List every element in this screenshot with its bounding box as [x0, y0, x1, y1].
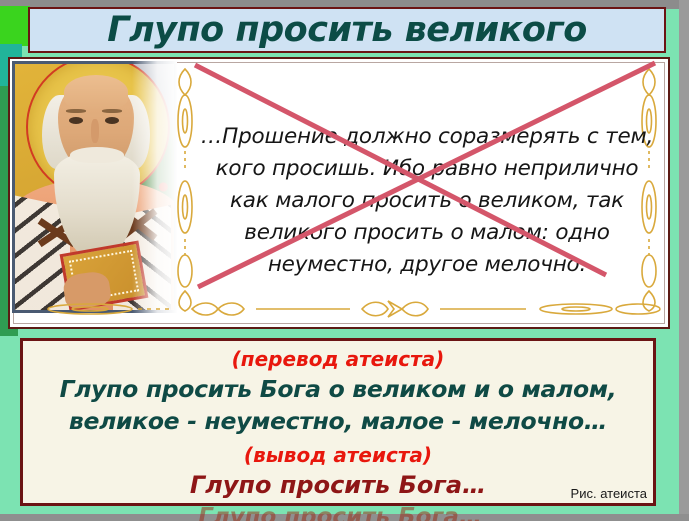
atheist-commentary-panel: (перевод атеиста) Глупо просить Бога о в…	[20, 338, 656, 506]
background-accent-green	[0, 6, 30, 46]
ghost-conclusion-text: Глупо просить Бога…	[40, 504, 640, 521]
quote-text: …Прошение должно соразмерять с тем, кого…	[196, 121, 658, 281]
translation-line-2: великое - неуместно, малое - мелочно…	[23, 407, 653, 435]
slide-title: Глупо просить великого	[107, 13, 587, 48]
slide-title-bar: Глупо просить великого	[28, 7, 666, 53]
translation-line-1: Глупо просить Бога о великом и о малом,	[23, 375, 653, 403]
conclusion-line: Глупо просить Бога…	[23, 471, 653, 499]
translation-label: (перевод атеиста)	[23, 347, 653, 371]
credit-caption: Рис. атеиста	[571, 486, 647, 501]
conclusion-label: (вывод атеиста)	[23, 443, 653, 467]
icon-eye-right	[105, 117, 119, 124]
icon-forehead	[64, 75, 128, 109]
saint-icon-image	[12, 61, 177, 313]
background-strip-right	[679, 0, 689, 521]
icon-moustache	[70, 147, 124, 163]
slide-canvas: Глупо просить великого	[0, 0, 689, 521]
icon-nose	[91, 119, 99, 143]
icon-eye-left	[69, 117, 83, 124]
icon-eyebrow-right	[102, 109, 122, 113]
quote-panel: …Прошение должно соразмерять с тем, кого…	[8, 57, 670, 329]
icon-eyebrow-left	[66, 109, 86, 113]
